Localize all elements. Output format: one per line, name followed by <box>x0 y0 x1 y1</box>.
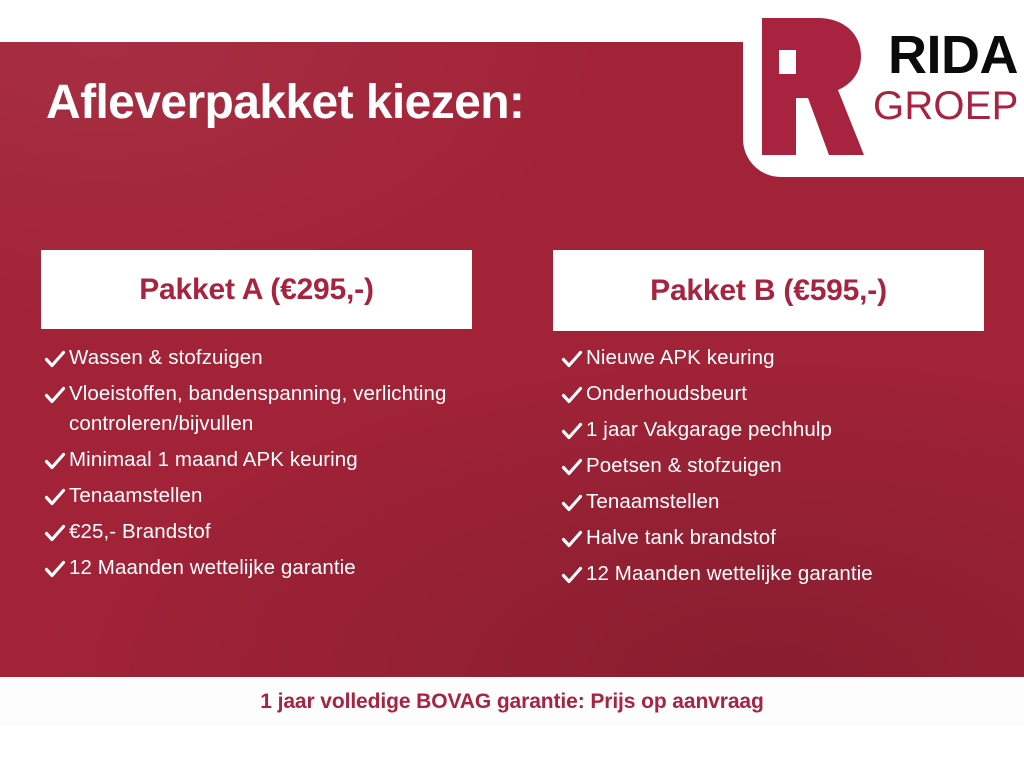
page-title: Afleverpakket kiezen: <box>46 74 524 132</box>
check-icon <box>558 345 586 373</box>
slide-root: Afleverpakket kiezen: RIDA GROEP Pakket … <box>0 0 1024 768</box>
feature-text: Wassen & stofzuigen <box>69 343 263 373</box>
feature-text: Minimaal 1 maand APK keuring <box>69 445 358 475</box>
feature-text: Tenaamstellen <box>586 487 720 517</box>
feature-text: Tenaamstellen <box>69 481 203 511</box>
rida-r-monogram-icon <box>756 14 866 154</box>
list-item: 1 jaar Vakgarage pechhulp <box>558 415 1013 445</box>
check-icon <box>558 417 586 445</box>
feature-text: 12 Maanden wettelijke garantie <box>586 559 873 589</box>
check-icon <box>558 489 586 517</box>
feature-text: 1 jaar Vakgarage pechhulp <box>586 415 832 445</box>
package-card-b[interactable]: Pakket B (€595,-) <box>553 250 984 331</box>
check-icon <box>558 525 586 553</box>
feature-text: Halve tank brandstof <box>586 523 776 553</box>
feature-text: €25,- Brandstof <box>69 517 211 547</box>
package-card-a[interactable]: Pakket A (€295,-) <box>41 250 472 329</box>
brand-wordmark: RIDA GROEP <box>873 28 1018 128</box>
list-item: Vloeistoffen, bandenspanning, verlichtin… <box>41 379 511 439</box>
list-item: Nieuwe APK keuring <box>558 343 1013 373</box>
feature-text: Nieuwe APK keuring <box>586 343 775 373</box>
check-icon <box>558 561 586 589</box>
list-item: Halve tank brandstof <box>558 523 1013 553</box>
check-icon <box>41 483 69 511</box>
feature-text: Onderhoudsbeurt <box>586 379 747 409</box>
feature-text: 12 Maanden wettelijke garantie <box>69 553 356 583</box>
brand-name: RIDA <box>873 28 1018 82</box>
check-icon <box>41 447 69 475</box>
check-icon <box>41 381 69 409</box>
list-item: Tenaamstellen <box>41 481 511 511</box>
list-item: Minimaal 1 maand APK keuring <box>41 445 511 475</box>
list-item: 12 Maanden wettelijke garantie <box>41 553 511 583</box>
check-icon <box>41 345 69 373</box>
list-item: Tenaamstellen <box>558 487 1013 517</box>
list-item: Onderhoudsbeurt <box>558 379 1013 409</box>
list-item: €25,- Brandstof <box>41 517 511 547</box>
brand-subname: GROEP <box>873 84 1018 128</box>
check-icon <box>558 453 586 481</box>
footer-bar: 1 jaar volledige BOVAG garantie: Prijs o… <box>0 677 1024 727</box>
feature-text: Poetsen & stofzuigen <box>586 451 782 481</box>
list-item: Poetsen & stofzuigen <box>558 451 1013 481</box>
check-icon <box>41 519 69 547</box>
package-b-feature-list: Nieuwe APK keuring Onderhoudsbeurt 1 jaa… <box>558 343 1013 595</box>
brand-logo-panel: RIDA GROEP <box>743 0 1024 177</box>
check-icon <box>558 381 586 409</box>
package-a-title: Pakket A (€295,-) <box>41 272 472 308</box>
list-item: Wassen & stofzuigen <box>41 343 511 373</box>
footer-note: 1 jaar volledige BOVAG garantie: Prijs o… <box>260 689 763 715</box>
package-a-feature-list: Wassen & stofzuigen Vloeistoffen, banden… <box>41 343 511 589</box>
check-icon <box>41 555 69 583</box>
package-b-title: Pakket B (€595,-) <box>553 273 984 309</box>
feature-text: Vloeistoffen, bandenspanning, verlichtin… <box>69 379 511 439</box>
bottom-white-strip <box>0 727 1024 768</box>
list-item: 12 Maanden wettelijke garantie <box>558 559 1013 589</box>
